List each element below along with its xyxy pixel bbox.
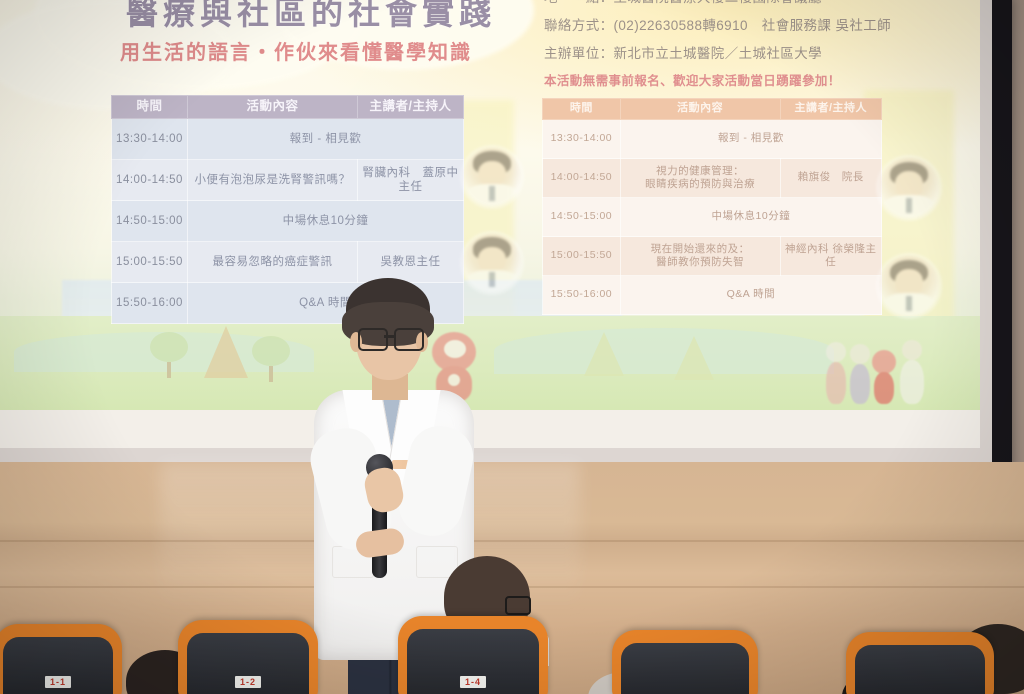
cell-content: 最容易忽略的癌症警訊 [188, 242, 358, 283]
speaker-portrait [463, 148, 521, 206]
column-header-speaker: 主講者/主持人 [358, 96, 464, 119]
auditorium-seat[interactable]: 1-1 [0, 624, 122, 694]
pine-tree-icon [204, 326, 248, 378]
floor-seam [0, 540, 1024, 542]
cell-content: 小便有泡泡尿是洗腎警訊嗎？ [188, 160, 358, 201]
cell-content: 報到 - 相見歡 [620, 120, 881, 159]
family-illustration [822, 338, 934, 408]
glasses-bridge [384, 335, 394, 338]
cell-time: 14:50-15:00 [112, 201, 188, 242]
audience-glasses-icon [505, 596, 531, 615]
tree-icon [252, 336, 290, 382]
glasses-icon [394, 328, 424, 351]
auditorium-seat[interactable]: 1-4 [398, 616, 548, 694]
projection-screen-mat: 醫療與社區的社會實踐 用生活的語言・作伙來看懂醫學知識 地 點：土城醫院醫療大樓… [0, 0, 992, 471]
column-header-speaker: 主講者/主持人 [780, 99, 882, 120]
table-row: 14:50-15:00 中場休息10分鐘 [543, 198, 882, 237]
cell-content: 中場休息10分鐘 [620, 198, 881, 237]
seat-number-label: 1-4 [460, 676, 486, 688]
cell-content: 中場休息10分鐘 [188, 201, 464, 242]
cell-content: 報到 - 相見歡 [188, 119, 464, 160]
cell-content: 現在開始還來的及： 醫師教你預防失智 [620, 237, 780, 276]
auditorium-seat[interactable] [846, 632, 994, 694]
cell-time: 15:00-15:50 [543, 237, 621, 276]
auditorium-seat[interactable] [612, 630, 758, 694]
table-row: 15:00-15:50 最容易忽略的癌症警訊 吳教恩主任 [112, 242, 464, 283]
cell-speaker: 神經內科 徐榮隆主任 [780, 237, 882, 276]
column-header-time: 時間 [112, 96, 188, 119]
cell-content: 視力的健康管理： 眼睛疾病的預防與治療 [620, 159, 780, 198]
auditorium-seat[interactable]: 1-2 [178, 620, 318, 694]
table-header-row: 時間 活動內容 主講者/主持人 [543, 99, 882, 120]
cell-time: 15:50-16:00 [543, 276, 621, 315]
slide-subtitle: 用生活的語言・作伙來看懂醫學知識 [120, 36, 472, 65]
schedule-table-right: 時間 活動內容 主講者/主持人 13:30-14:00 報到 - 相見歡 14:… [542, 98, 882, 315]
speaker-portrait [879, 256, 939, 316]
tree-icon [150, 332, 188, 378]
presentation-slide: 醫療與社區的社會實踐 用生活的語言・作伙來看懂醫學知識 地 點：土城醫院醫療大樓… [0, 0, 980, 410]
projection-screen: 醫療與社區的社會實踐 用生活的語言・作伙來看懂醫學知識 地 點：土城醫院醫療大樓… [0, 0, 980, 448]
table-row: 15:50-16:00 Q&A 時間 [543, 276, 882, 315]
pine-tree-icon [674, 336, 714, 380]
table-row: 13:30-14:00 報到 - 相見歡 [543, 120, 882, 159]
cell-content: Q&A 時間 [620, 276, 881, 315]
hill-shape [494, 328, 834, 374]
seat-number-label: 1-1 [45, 676, 71, 688]
table-row: 15:00-15:50 現在開始還來的及： 醫師教你預防失智 神經內科 徐榮隆主… [543, 237, 882, 276]
cell-speaker: 賴旗俊 院長 [780, 159, 882, 198]
table-row: 14:50-15:00 中場休息10分鐘 [112, 201, 464, 242]
slide-info-organizer: 主辦單位：新北市立土城醫院／土城社區大學 [544, 42, 822, 62]
cell-time: 13:30-14:00 [543, 120, 621, 159]
pine-tree-icon [584, 332, 624, 376]
column-header-time: 時間 [543, 99, 621, 120]
seat-number-label: 1-2 [235, 676, 261, 688]
projection-screen-frame: 醫療與社區的社會實踐 用生活的語言・作伙來看懂醫學知識 地 點：土城醫院醫療大樓… [0, 0, 1012, 490]
table-row: 14:00-14:50 小便有泡泡尿是洗腎警訊嗎？ 腎臟內科 蓋原中主任 [112, 160, 464, 201]
table-row: 13:30-14:00 報到 - 相見歡 [112, 119, 464, 160]
table-header-row: 時間 活動內容 主講者/主持人 [112, 96, 464, 119]
slide-info-highlight: 本活動無需事前報名、歡迎大家活動當日踴躍參加！ [544, 70, 841, 89]
cell-speaker: 吳教恩主任 [358, 242, 464, 283]
cell-time: 13:30-14:00 [112, 119, 188, 160]
cell-time: 14:00-14:50 [543, 159, 621, 198]
cell-time: 14:50-15:00 [543, 198, 621, 237]
cell-time: 15:00-15:50 [112, 242, 188, 283]
cell-time: 15:50-16:00 [112, 283, 188, 324]
slide-info-location: 地 點：土城醫院醫療大樓二樓國際會議廳 [544, 0, 822, 6]
cell-time: 14:00-14:50 [112, 160, 188, 201]
speaker-portrait [879, 158, 939, 218]
column-header-content: 活動內容 [188, 96, 358, 119]
table-row: 14:00-14:50 視力的健康管理： 眼睛疾病的預防與治療 賴旗俊 院長 [543, 159, 882, 198]
slide-info-contact: 聯絡方式：(02)22630588轉6910 社會服務課 吳社工師 [544, 14, 891, 34]
glasses-icon [358, 328, 388, 351]
slide-title: 醫療與社區的社會實踐 [126, 0, 496, 34]
cell-speaker: 腎臟內科 蓋原中主任 [358, 160, 464, 201]
column-header-content: 活動內容 [620, 99, 780, 120]
photo-scene: 醫療與社區的社會實踐 用生活的語言・作伙來看懂醫學知識 地 點：土城醫院醫療大樓… [0, 0, 1024, 694]
